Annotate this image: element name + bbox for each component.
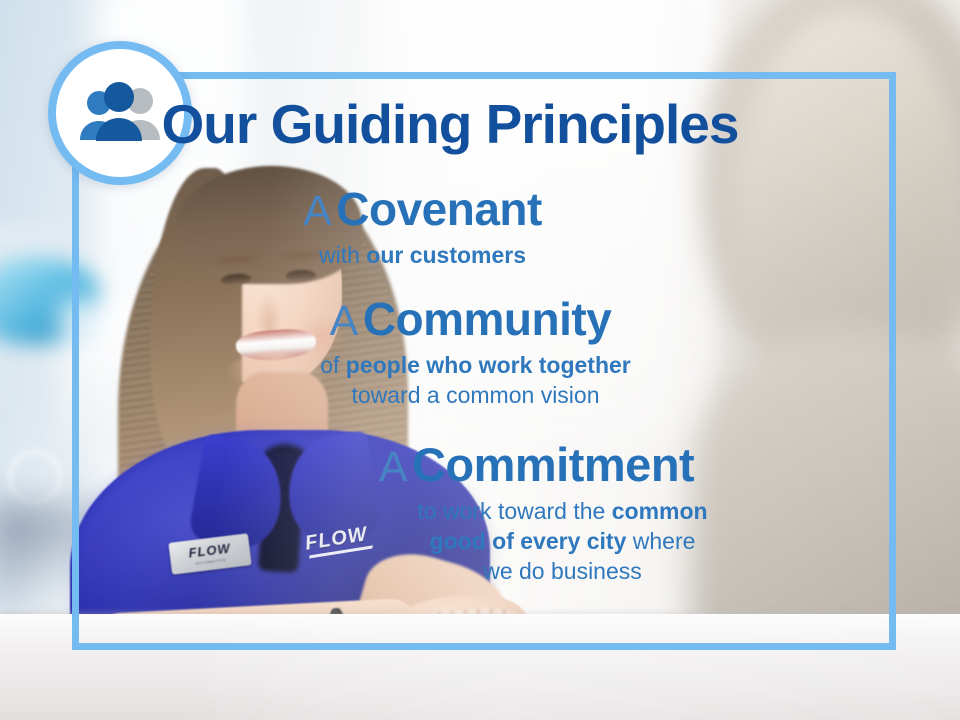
emphasis-text: people who work together (346, 352, 631, 378)
principle-commitment: A Commitment to work toward the commongo… (0, 441, 885, 587)
plain-text: of (320, 352, 346, 378)
principle-community: A Community of people who work togethert… (0, 296, 885, 411)
plain-text: we do business (483, 558, 642, 584)
plain-text: where (626, 528, 695, 554)
plain-text: to work toward the (417, 498, 611, 524)
principle-covenant-word: Covenant (336, 183, 542, 235)
principle-commitment-title: A Commitment (0, 441, 885, 490)
emphasis-text: our customers (366, 242, 526, 268)
emphasis-text: common (612, 498, 708, 524)
plain-text: with (319, 242, 366, 268)
principle-covenant-title: A Covenant (0, 186, 885, 234)
description-line: to work toward the common (240, 496, 885, 526)
description-line: with our customers (0, 240, 845, 270)
principle-community-description: of people who work togethertoward a comm… (0, 350, 885, 411)
principle-commitment-word: Commitment (412, 438, 694, 491)
plain-text: toward a common vision (352, 382, 600, 408)
description-line: good of every city where (240, 526, 885, 556)
principle-commitment-description: to work toward the commongood of every c… (0, 496, 885, 587)
description-line: of people who work together (66, 350, 885, 380)
principle-community-word: Community (363, 293, 612, 345)
emphasis-text: good of every city (430, 528, 627, 554)
principles-list: A Covenant with our customers A Communit… (0, 186, 885, 601)
page-title: Our Guiding Principles (0, 97, 900, 152)
principle-covenant: A Covenant with our customers (0, 186, 885, 270)
principle-covenant-description: with our customers (0, 240, 885, 270)
guiding-principles-graphic: FLOW AUTOMOTIVE FLOW (0, 0, 960, 720)
principle-community-article: A (330, 297, 359, 345)
desk-surface (0, 614, 960, 720)
description-line: we do business (240, 556, 885, 586)
principle-covenant-article: A (303, 187, 332, 235)
principle-community-title: A Community (0, 296, 885, 344)
description-line: toward a common vision (66, 380, 885, 410)
principle-commitment-article: A (379, 443, 408, 491)
